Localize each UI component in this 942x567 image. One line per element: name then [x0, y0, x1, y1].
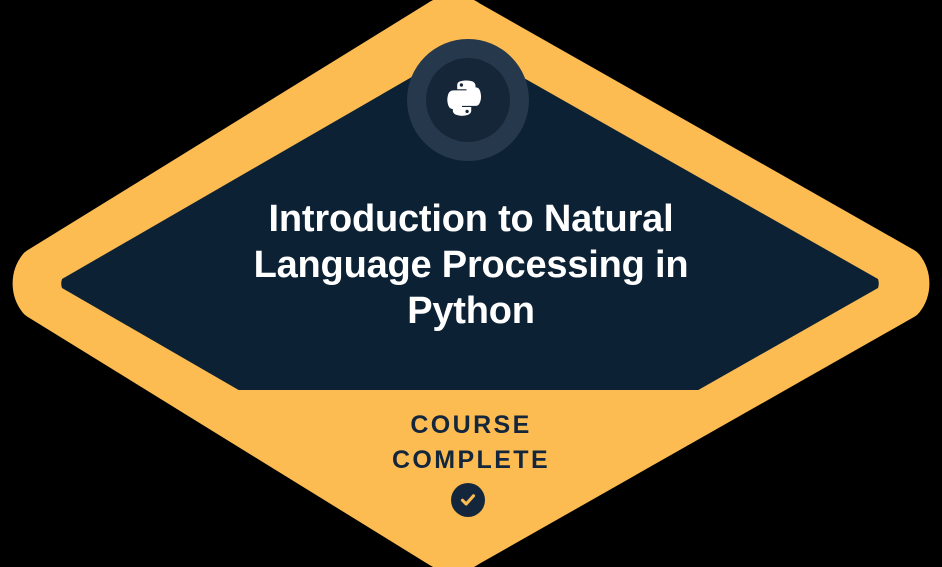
- diamond-badge-shape: [0, 0, 942, 567]
- badge-canvas: Introduction to Natural Language Process…: [0, 0, 942, 567]
